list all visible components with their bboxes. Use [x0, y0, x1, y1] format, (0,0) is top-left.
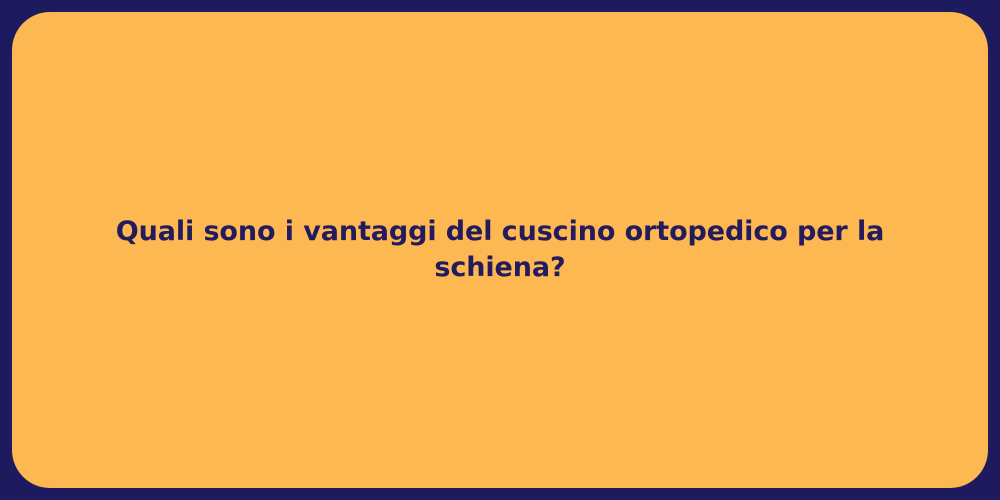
question-heading: Quali sono i vantaggi del cuscino ortope…: [62, 214, 938, 285]
card-panel: Quali sono i vantaggi del cuscino ortope…: [12, 12, 988, 488]
card-frame: Quali sono i vantaggi del cuscino ortope…: [0, 0, 1000, 500]
